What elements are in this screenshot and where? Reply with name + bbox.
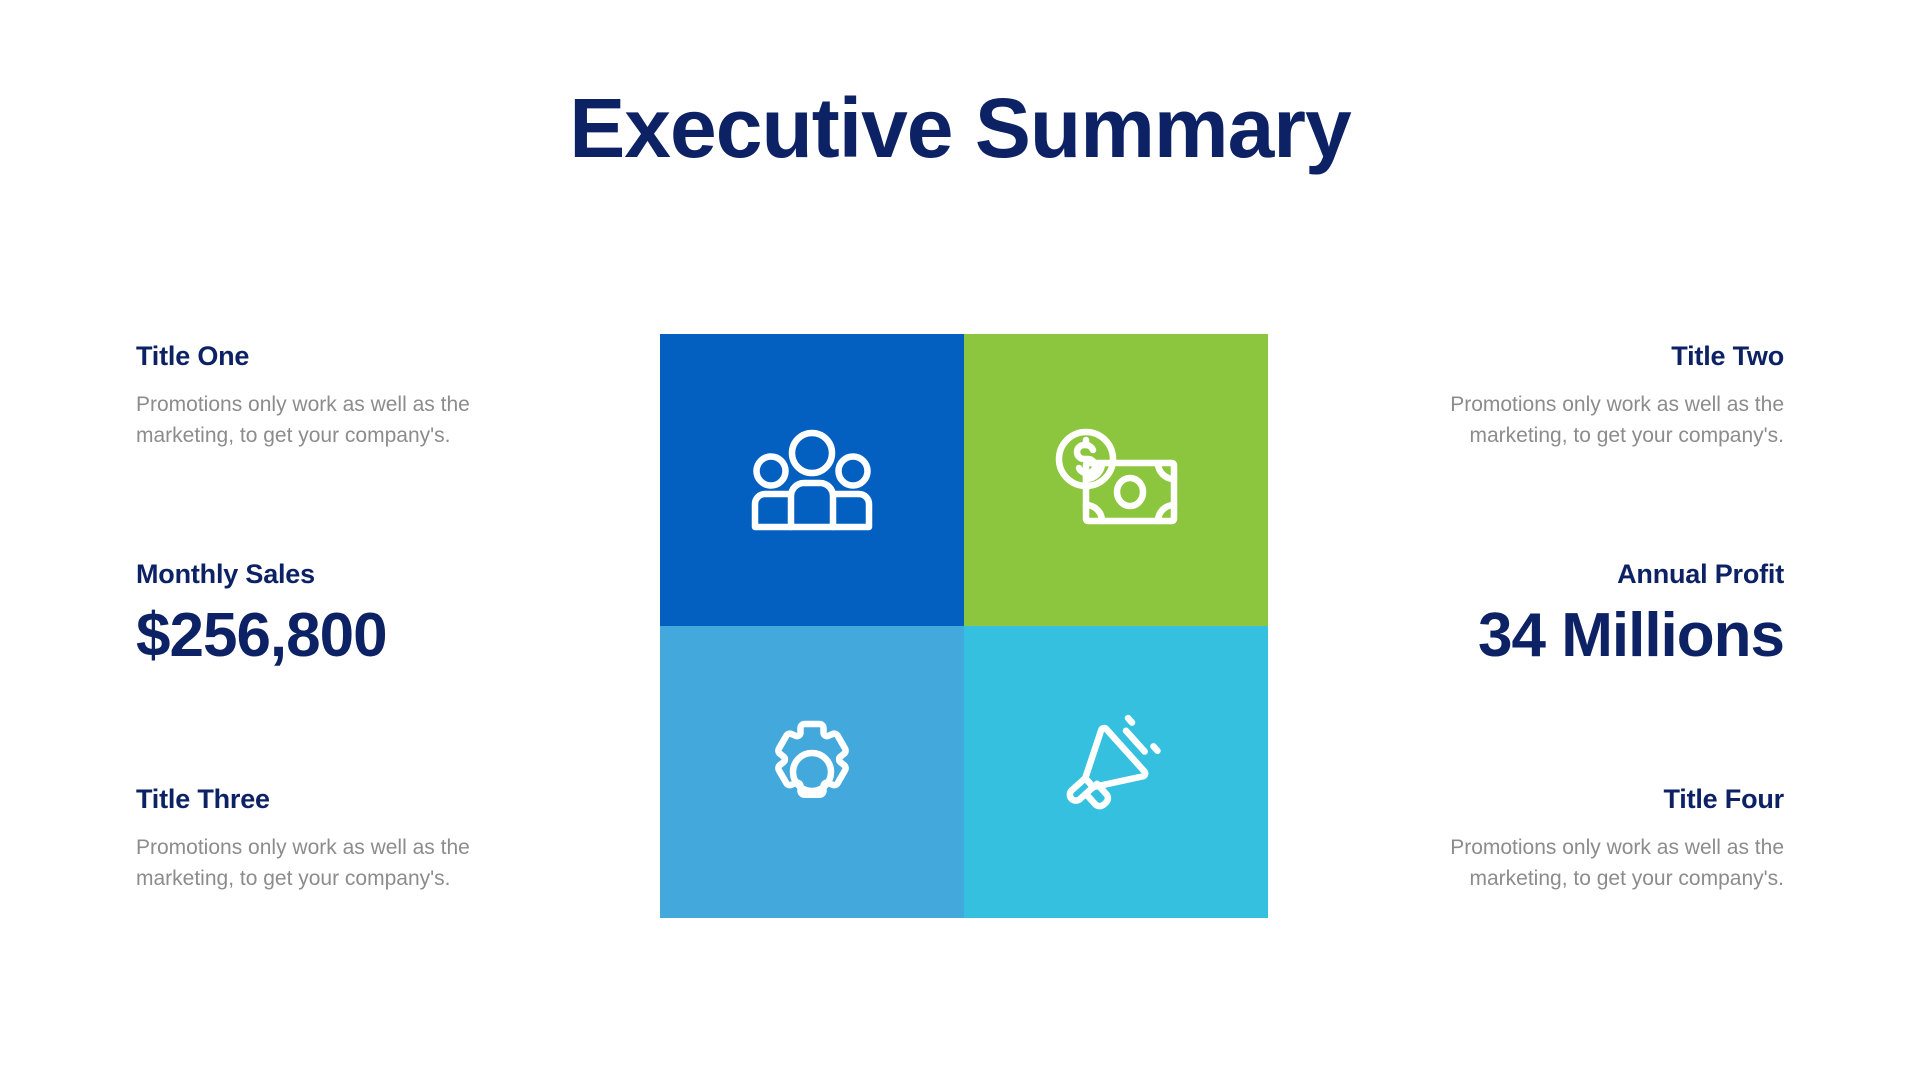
page-title: Executive Summary bbox=[0, 84, 1920, 172]
icon-cell-gear[interactable] bbox=[660, 626, 964, 918]
info-block-two-body: Promotions only work as well as the mark… bbox=[1364, 390, 1784, 451]
icon-cell-money[interactable] bbox=[964, 334, 1268, 626]
info-block-one-title: Title One bbox=[136, 340, 556, 372]
people-icon bbox=[747, 426, 877, 534]
stat-annual-profit-value: 34 Millions bbox=[1324, 602, 1784, 670]
info-block-three-title: Title Three bbox=[136, 783, 556, 815]
info-block-one: Title One Promotions only work as well a… bbox=[136, 340, 556, 451]
icon-cell-megaphone[interactable] bbox=[964, 626, 1268, 918]
stat-annual-profit: Annual Profit 34 Millions bbox=[1324, 558, 1784, 671]
stat-annual-profit-label: Annual Profit bbox=[1324, 558, 1784, 590]
info-block-four: Title Four Promotions only work as well … bbox=[1364, 783, 1784, 894]
info-block-three-body: Promotions only work as well as the mark… bbox=[136, 833, 556, 894]
stat-monthly-sales-label: Monthly Sales bbox=[136, 558, 596, 590]
info-block-two-title: Title Two bbox=[1364, 340, 1784, 372]
stat-monthly-sales: Monthly Sales $256,800 bbox=[136, 558, 596, 671]
info-block-one-body: Promotions only work as well as the mark… bbox=[136, 390, 556, 451]
stat-monthly-sales-value: $256,800 bbox=[136, 602, 596, 670]
info-block-three: Title Three Promotions only work as well… bbox=[136, 783, 556, 894]
icon-grid bbox=[660, 334, 1268, 918]
info-block-two: Title Two Promotions only work as well a… bbox=[1364, 340, 1784, 451]
info-block-four-title: Title Four bbox=[1364, 783, 1784, 815]
executive-summary-slide: Executive Summary Title One Promotions o… bbox=[0, 0, 1920, 1080]
megaphone-icon bbox=[1055, 714, 1177, 830]
icon-cell-people[interactable] bbox=[660, 334, 964, 626]
money-icon bbox=[1052, 427, 1180, 533]
gear-icon bbox=[756, 716, 868, 828]
info-block-four-body: Promotions only work as well as the mark… bbox=[1364, 833, 1784, 894]
